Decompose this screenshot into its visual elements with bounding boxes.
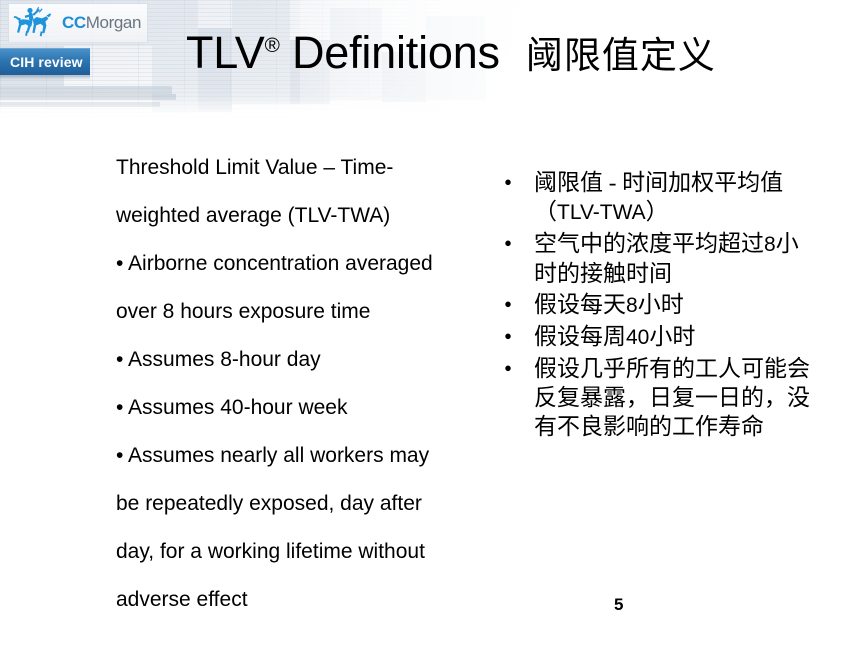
list-item: • 空气中的浓度平均超过8小时的接触时间 (498, 229, 816, 288)
list-item-text: 假设每周40小时 (534, 322, 816, 352)
list-item: • 假设每天8小时 (498, 290, 816, 320)
cih-review-tab-label: CIH review (10, 54, 83, 70)
left-line: adverse effect (116, 576, 488, 624)
zh-pre: 假设几乎所有的工人可能会反复暴露，日复一日的，没有不良影响的工作寿命 (534, 356, 810, 439)
title-definitions-text: Definitions (280, 27, 500, 78)
bullet-icon: • (498, 322, 534, 351)
left-line: weighted average (TLV-TWA) (116, 192, 488, 240)
zh-latin: 8 (626, 294, 638, 317)
banner-bottom-fade (0, 96, 860, 128)
slide-title-english: TLV® Definitions (186, 30, 500, 75)
list-item: • 阈限值 - 时间加权平均值（TLV-TWA） (498, 168, 816, 227)
bullet-icon: • (498, 168, 534, 197)
slide-canvas: CCMorgan CIH review TLV® Definitions 阈限值… (0, 0, 860, 650)
cih-review-tab[interactable]: CIH review (0, 48, 90, 75)
logo-wordmark: CCMorgan (62, 13, 141, 33)
bullet-icon: • (498, 290, 534, 319)
zh-pre: 假设每天 (534, 292, 626, 317)
left-line: Threshold Limit Value – Time- (116, 144, 488, 192)
list-item: • 假设几乎所有的工人可能会反复暴露，日复一日的，没有不良影响的工作寿命 (498, 354, 816, 442)
list-item-text: 空气中的浓度平均超过8小时的接触时间 (534, 229, 816, 288)
zh-post: 小时 (638, 292, 684, 317)
left-line: • Assumes 40-hour week (116, 384, 488, 432)
bullet-icon: • (498, 229, 534, 258)
logo-morgan-text: Morgan (86, 13, 141, 32)
left-text-column: Threshold Limit Value – Time- weighted a… (116, 144, 488, 624)
left-line: day, for a working lifetime without (116, 528, 488, 576)
zh-latin: 40 (626, 326, 649, 349)
zh-pre: 假设每周 (534, 324, 626, 349)
right-text-column: • 阈限值 - 时间加权平均值（TLV-TWA） • 空气中的浓度平均超过8小时… (498, 168, 816, 444)
bullet-icon: • (498, 354, 534, 383)
zh-pre: 空气中的浓度平均超过 (534, 231, 764, 256)
zh-post: 小时 (649, 324, 695, 349)
slide-title: TLV® Definitions 阈限值定义 (186, 30, 716, 75)
list-item-text: 假设每天8小时 (534, 290, 816, 320)
left-line: • Assumes nearly all workers may (116, 432, 488, 480)
zh-post: ） (646, 199, 669, 224)
list-item-text: 阈限值 - 时间加权平均值（TLV-TWA） (534, 168, 816, 227)
brand-logo[interactable]: CCMorgan (10, 4, 146, 42)
left-line: • Airborne concentration averaged (116, 240, 488, 288)
zh-latin: TLV-TWA (557, 201, 646, 224)
ccmorgan-rider-icon (10, 5, 60, 41)
list-item-text: 假设几乎所有的工人可能会反复暴露，日复一日的，没有不良影响的工作寿命 (534, 354, 816, 442)
title-tlv-text: TLV (186, 27, 265, 78)
zh-latin: 8 (764, 233, 776, 256)
page-number: 5 (614, 595, 623, 615)
left-line: be repeatedly exposed, day after (116, 480, 488, 528)
registered-trademark-icon: ® (265, 34, 280, 57)
slide-title-chinese: 阈限值定义 (526, 38, 716, 75)
cih-review-tab-shadow (0, 75, 90, 80)
list-item: • 假设每周40小时 (498, 322, 816, 352)
left-line: • Assumes 8-hour day (116, 336, 488, 384)
logo-cc-text: CC (62, 13, 86, 32)
left-line: over 8 hours exposure time (116, 288, 488, 336)
